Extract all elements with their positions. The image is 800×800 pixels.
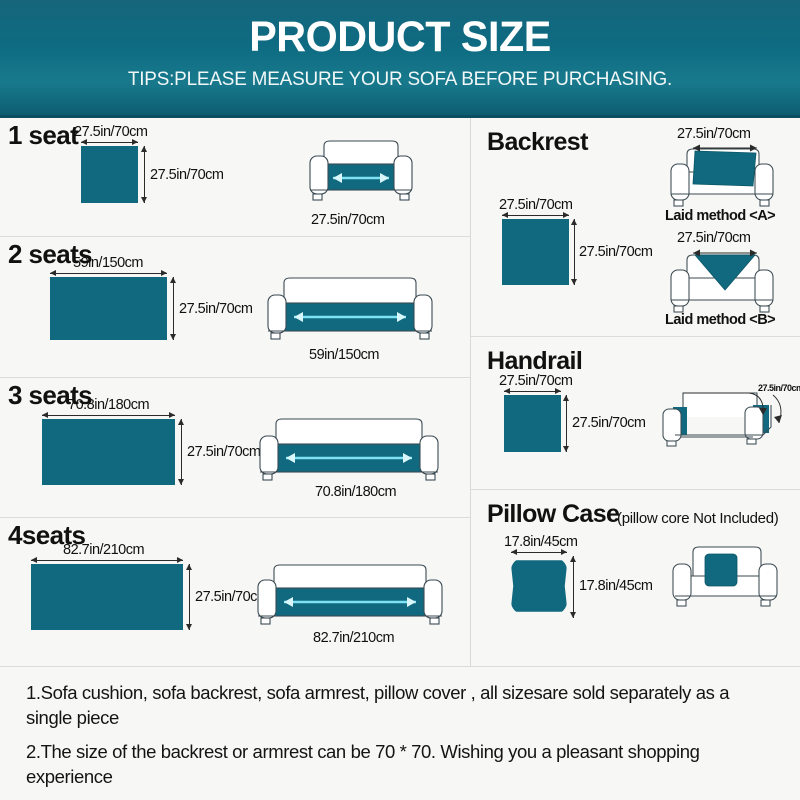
caption-method-b: Laid method <B>: [665, 312, 775, 328]
label-sofa-width-3-seats: 70.8in/180cm: [315, 484, 396, 500]
footer-note-1: 1.Sofa cushion, sofa backrest, sofa armr…: [26, 681, 774, 730]
illustration-backrest-method-b: [657, 244, 785, 318]
label-sofa-width-4-seats: 82.7in/210cm: [313, 630, 394, 646]
dim-width-1-seat: [81, 142, 138, 143]
dim-height-pillow-case: [573, 556, 574, 618]
label-width-1-seat: 27.5in/70cm: [74, 124, 148, 140]
label-width-4-seats: 82.7in/210cm: [63, 542, 144, 558]
row-backrest-title: Backrest: [487, 128, 588, 157]
pillow-case-note: (pillow core Not Included): [617, 510, 778, 527]
swatch-3-seats: [42, 419, 175, 485]
footer-note-2: 2.The size of the backrest or armrest ca…: [26, 740, 774, 789]
swatch-backrest: [502, 219, 569, 285]
dim-width-pillow-case: [511, 552, 567, 553]
row-3-seats: 3 seats 70.8in/180cm 27.5in/70cm: [0, 378, 470, 518]
label-sofa-size-handrail: 27.5in/70cm: [758, 383, 800, 393]
swatch-1-seat: [81, 146, 138, 203]
row-2-seats: 2 seats 59in/150cm 27.5in/70cm: [0, 237, 470, 378]
seat-sizes-column: 1 seat 27.5in/70cm 27.5in/70cm: [0, 118, 470, 666]
label-sofa-width-1-seat: 27.5in/70cm: [311, 212, 385, 228]
label-height-pillow-case: 17.8in/45cm: [579, 578, 653, 594]
accessory-sizes-column: Backrest 27.5in/70cm 27.5in/70cm 27.5in/…: [470, 118, 800, 666]
dim-height-1-seat: [144, 146, 145, 203]
size-table: 1 seat 27.5in/70cm 27.5in/70cm: [0, 118, 800, 666]
caption-method-a: Laid method <A>: [665, 208, 775, 224]
footer-notes: 1.Sofa cushion, sofa backrest, sofa armr…: [0, 666, 800, 800]
label-sofa-width-2-seats: 59in/150cm: [309, 347, 379, 363]
row-1-seat-title: 1 seat: [8, 120, 78, 151]
illustration-pillow-case-sofa: [667, 538, 787, 618]
dim-height-handrail: [566, 395, 567, 452]
label-height-handrail: 27.5in/70cm: [572, 415, 646, 431]
header-subtitle: TIPS:PLEASE MEASURE YOUR SOFA BEFORE PUR…: [12, 59, 788, 91]
illustration-3-seats-sofa: [250, 412, 450, 492]
label-width-2-seats: 59in/150cm: [73, 255, 143, 271]
swatch-handrail: [504, 395, 561, 452]
header-banner: PRODUCT SIZE TIPS:PLEASE MEASURE YOUR SO…: [0, 0, 800, 118]
label-height-backrest: 27.5in/70cm: [579, 244, 653, 260]
dim-height-backrest: [574, 219, 575, 285]
row-4-seats: 4seats 82.7in/210cm 27.5in/70cm: [0, 518, 470, 666]
dim-width-3-seats: [42, 415, 175, 416]
product-size-infographic: PRODUCT SIZE TIPS:PLEASE MEASURE YOUR SO…: [0, 0, 800, 800]
illustration-2-seats-sofa: [258, 269, 444, 349]
dim-width-2-seats: [50, 273, 167, 274]
row-handrail-title: Handrail: [487, 347, 582, 376]
row-handrail: Handrail 27.5in/70cm 27.5in/70cm: [471, 337, 800, 490]
label-width-handrail: 27.5in/70cm: [499, 373, 573, 389]
illustration-backrest-method-a: [657, 140, 785, 212]
page-title: PRODUCT SIZE: [16, 0, 784, 59]
dim-width-handrail: [504, 391, 561, 392]
dim-height-2-seats: [173, 277, 174, 340]
label-width-backrest: 27.5in/70cm: [499, 197, 573, 213]
row-pillow-case: Pillow Case (pillow core Not Included) 1…: [471, 490, 800, 666]
label-height-1-seat: 27.5in/70cm: [150, 167, 224, 183]
illustration-1-seat-sofa: [300, 136, 422, 208]
swatch-2-seats: [50, 277, 167, 340]
label-width-pillow-case: 17.8in/45cm: [504, 534, 578, 550]
row-1-seat: 1 seat 27.5in/70cm 27.5in/70cm: [0, 118, 470, 237]
swatch-4-seats: [31, 564, 183, 630]
swatch-pillow-case: [511, 558, 567, 614]
dim-height-4-seats: [189, 564, 190, 630]
dim-width-backrest: [502, 215, 569, 216]
label-width-3-seats: 70.8in/180cm: [68, 397, 149, 413]
dim-width-4-seats: [31, 560, 183, 561]
illustration-4-seats-sofa: [248, 556, 452, 638]
row-pillow-case-title: Pillow Case: [487, 500, 619, 529]
label-height-2-seats: 27.5in/70cm: [179, 301, 253, 317]
row-backrest: Backrest 27.5in/70cm 27.5in/70cm 27.5in/…: [471, 118, 800, 337]
dim-height-3-seats: [181, 419, 182, 485]
